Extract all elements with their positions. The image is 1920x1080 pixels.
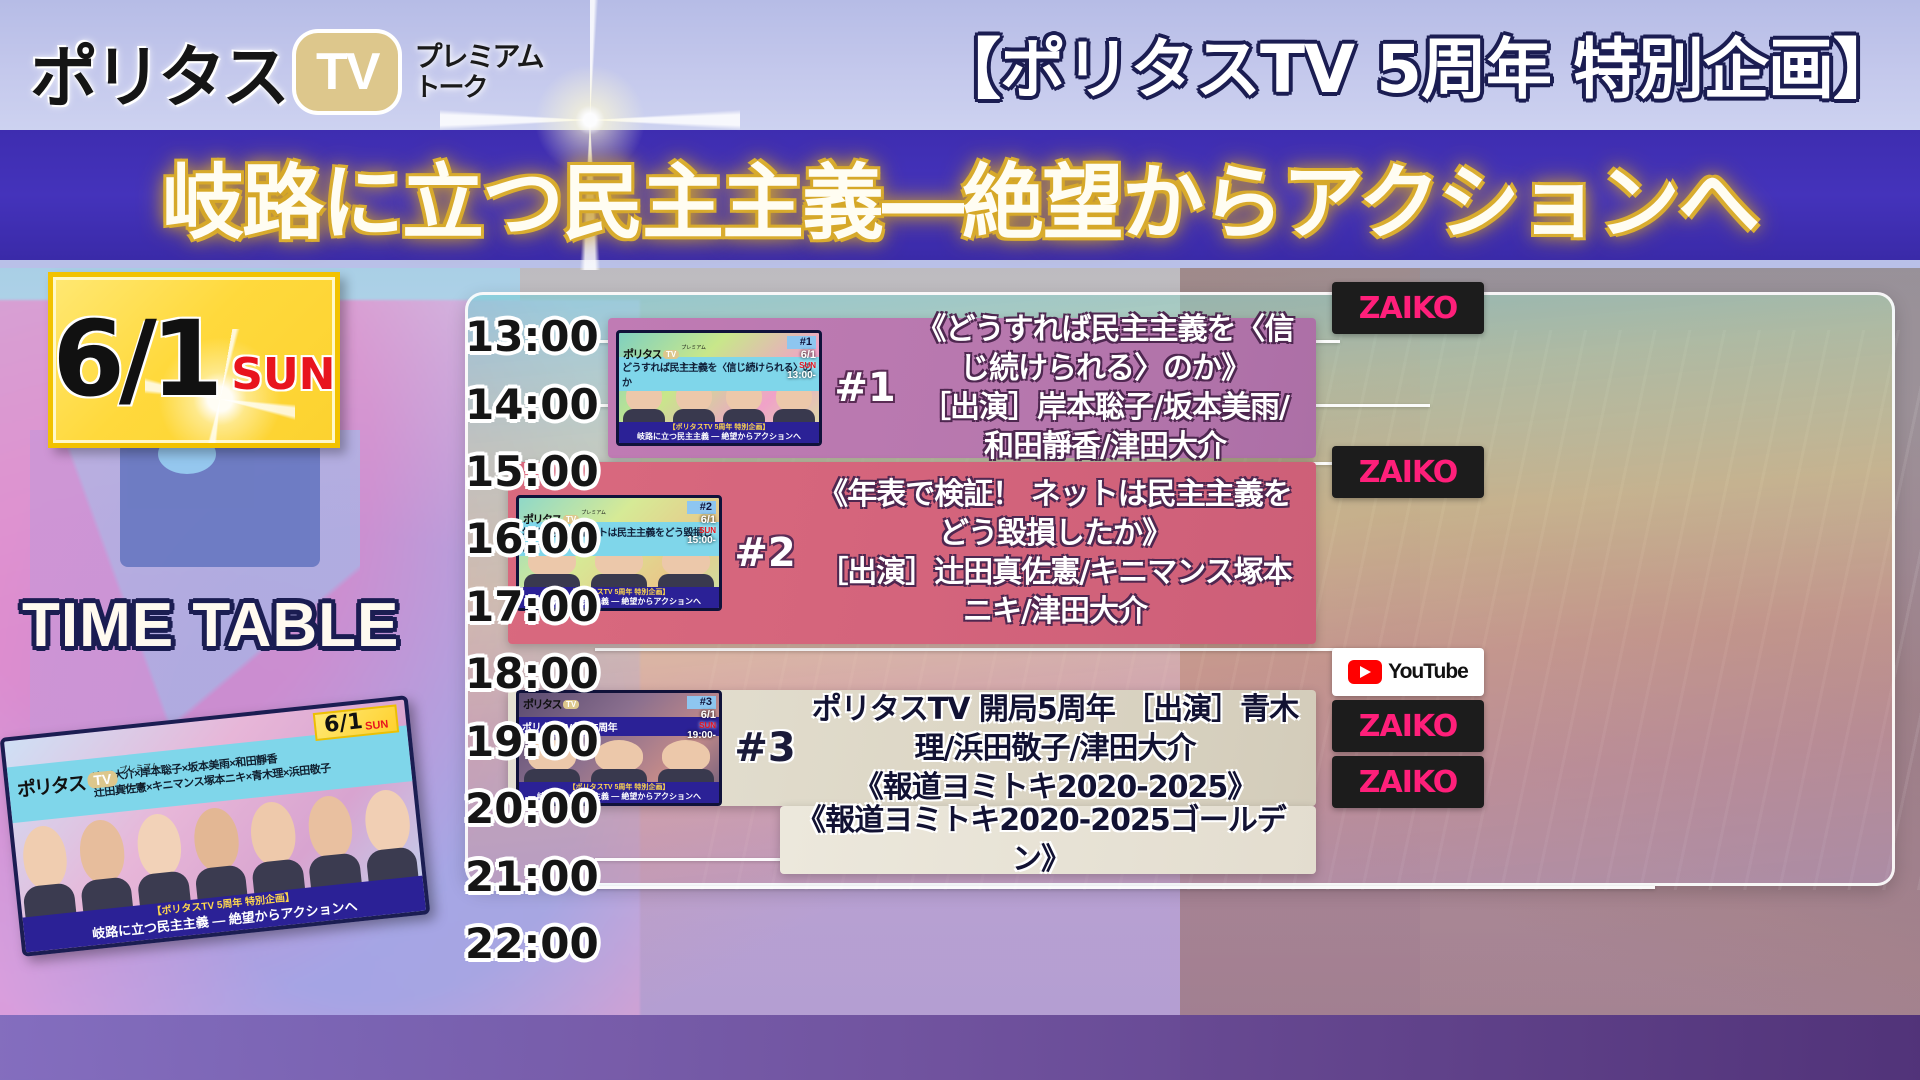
key-visual-logo-tv: TV — [87, 770, 118, 789]
program-subtitle-golden: 《報道ヨミトキ2020-2025ゴールデン》 — [780, 801, 1302, 879]
zaiko-badge[interactable]: ZAIKO — [1332, 700, 1484, 752]
key-visual-date: 6/1 — [323, 711, 364, 737]
program-title: 《年表で検証！ ネットは民主主義をどう毀損したか》 — [808, 475, 1302, 553]
thumbnail-caption-main: 岐路に立つ民主主義 ― 絶望からアクションへ — [637, 432, 801, 441]
time-axis: 13:00 14:00 15:00 16:00 17:00 18:00 19:0… — [465, 292, 595, 886]
thumbnail-premium-1: プレミアム — [681, 345, 706, 351]
date-badge: 6 / 1 SUN — [48, 272, 340, 448]
thumbnail-caption-small: 【ポリタスTV 5周年 特別企画】 — [619, 423, 819, 432]
time-label: 15:00 — [465, 447, 595, 496]
youtube-play-icon — [1348, 660, 1382, 684]
date-day-of-week: SUN — [231, 349, 335, 400]
time-label: 21:00 — [465, 852, 595, 901]
program-row[interactable]: どうすれば民主主義を〈信じ続けられる〉のか ポリタス TV プレミアム トーク … — [608, 318, 1316, 458]
key-visual-card: ポリタス TV プレミアム トーク 6/1 SUN 津田大介×岸本聡子×坂本美雨… — [0, 695, 430, 957]
youtube-label: YouTube — [1388, 660, 1468, 684]
program-episode-number: #1 — [822, 365, 908, 411]
time-label: 20:00 — [465, 784, 595, 833]
program-episode-number: #2 — [722, 530, 808, 576]
date-month: 6 — [53, 312, 125, 408]
program-cast: ［出演］岸本聡子/坂本美雨/和田靜香/津田大介 — [908, 388, 1302, 466]
program-platforms: YouTube ZAIKO ZAIKO — [1332, 648, 1484, 808]
thumbnail-meta: #3 6/1 SUN 19:00- — [687, 696, 716, 742]
thumbnail-premium: プレミアム トーク — [681, 336, 706, 372]
time-label: 22:00 — [465, 919, 595, 968]
page-title: 【ポリタスTV 5周年 特別企画】 — [935, 16, 1898, 112]
brand-logo-word: ポリタス — [30, 22, 286, 121]
program-row[interactable]: ポリタス TV プレミアム トーク #2 6/1 SUN 15:00- 年表で検… — [508, 462, 1316, 644]
zaiko-badge[interactable]: ZAIKO — [1332, 446, 1484, 498]
program-platforms: ZAIKO — [1332, 282, 1484, 334]
brand-premium-line2: トーク — [414, 74, 542, 100]
key-visual-premium: プレミアム トーク — [118, 756, 161, 796]
avatar — [353, 763, 422, 886]
zaiko-badge[interactable]: ZAIKO — [1332, 756, 1484, 808]
thumbnail-episode: #3 — [687, 696, 716, 709]
key-visual-premium-2: トーク — [121, 781, 146, 792]
brand-premium-line1: プレミアム — [414, 43, 542, 71]
thumbnail-caption: 【ポリタスTV 5周年 特別企画】 岐路に立つ民主主義 ― 絶望からアクションへ — [619, 422, 819, 443]
thumbnail-episode: #2 — [687, 501, 716, 514]
program-row-extra[interactable]: 《報道ヨミトキ2020-2025ゴールデン》 — [780, 806, 1316, 874]
key-visual-dow: SUN — [365, 718, 389, 732]
program-row[interactable]: ポリタス TV #3 6/1 SUN 19:00- ポリタスTV 開局5周年 【… — [508, 690, 1316, 806]
brand-logo-tv-pill: TV — [296, 33, 398, 111]
key-visual-logo-word: ポリタス — [16, 768, 86, 802]
time-label: 14:00 — [465, 380, 595, 429]
thumbnail-meta: #2 6/1 SUN 15:00- — [687, 501, 716, 547]
thumbnail-time: 19:00- — [687, 730, 716, 742]
time-label: 16:00 — [465, 514, 595, 563]
thumbnail-episode: #1 — [787, 336, 816, 349]
time-label: 17:00 — [465, 582, 595, 631]
program-episode-number: #3 — [722, 725, 808, 771]
thumbnail-time: 15:00- — [687, 535, 716, 547]
thumbnail-logo: どうすれば民主主義を〈信じ続けられる〉のか ポリタス TV プレミアム トーク — [623, 336, 706, 372]
program-details: ポリタスTV 開局5周年 ［出演］青木理/浜田敬子/津田大介 《報道ヨミトキ20… — [808, 690, 1316, 807]
zaiko-badge[interactable]: ZAIKO — [1332, 282, 1484, 334]
grid-line-2200 — [595, 886, 1655, 889]
grid-line-1800 — [595, 648, 1430, 651]
background-bottom-band — [0, 1015, 1920, 1080]
thumbnail-meta: #1 6/1 SUN 13:00- — [787, 336, 816, 382]
brand-logo-premium-talk: プレミアム トーク — [414, 43, 542, 100]
time-label: 19:00 — [465, 717, 595, 766]
brand-logo: ポリタス TV プレミアム トーク — [30, 22, 543, 121]
program-cast: ［出演］辻田真佐憲/キニマンス塚本ニキ/津田大介 — [808, 553, 1302, 631]
key-visual-premium-1: プレミアム — [119, 762, 159, 775]
timetable-heading: TIME TABLE — [22, 590, 399, 661]
program-details-extra: 《報道ヨミトキ2020-2025ゴールデン》 — [780, 801, 1316, 879]
thumbnail-brand-tv: TV — [663, 350, 679, 359]
time-label: 13:00 — [465, 312, 595, 361]
thumbnail-date: 6/1 — [687, 514, 716, 527]
date-badge-text: 6 / 1 SUN — [53, 312, 336, 408]
thumbnail-premium-2: トーク — [681, 363, 696, 369]
program-title: ポリタスTV 開局5周年 ［出演］青木理/浜田敬子/津田大介 — [808, 690, 1302, 768]
thumbnail-brand: ポリタス — [623, 346, 661, 362]
program-thumbnail[interactable]: どうすれば民主主義を〈信じ続けられる〉のか ポリタス TV プレミアム トーク … — [616, 330, 822, 446]
youtube-badge[interactable]: YouTube — [1332, 648, 1484, 696]
program-details: 《どうすれば民主主義を〈信じ続けられる〉のか》 ［出演］岸本聡子/坂本美雨/和田… — [908, 310, 1316, 466]
date-day: 1 — [151, 312, 223, 408]
thumbnail-time: 13:00- — [787, 370, 816, 382]
program-platforms: ZAIKO — [1332, 446, 1484, 498]
thumbnail-date: 6/1 — [787, 349, 816, 362]
program-details: 《年表で検証！ ネットは民主主義をどう毀損したか》 ［出演］辻田真佐憲/キニマン… — [808, 475, 1316, 631]
page-subtitle: 岐路に立つ民主主義―絶望からアクションへ — [0, 132, 1920, 258]
thumbnail-date: 6/1 — [687, 709, 716, 722]
program-title: 《どうすれば民主主義を〈信じ続けられる〉のか》 — [908, 310, 1302, 388]
time-label: 18:00 — [465, 649, 595, 698]
